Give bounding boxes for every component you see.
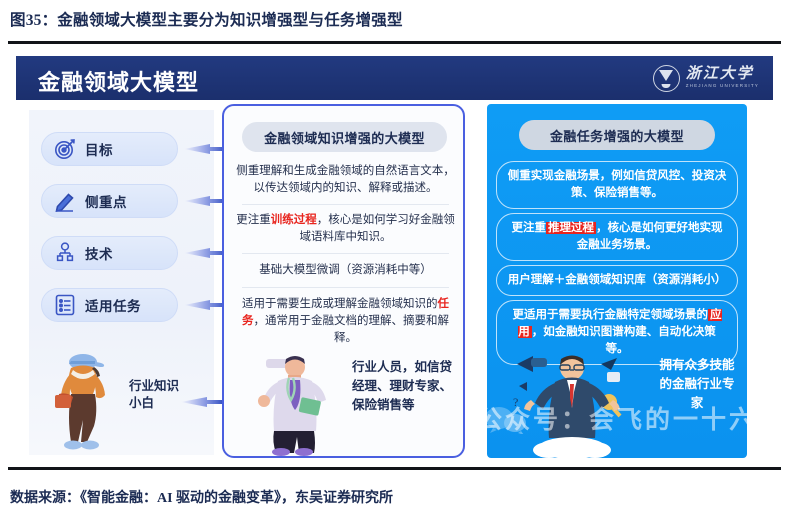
source-note: 数据来源：《智能金融：AI 驱动的金融变革》，东吴证券研究所 bbox=[10, 487, 393, 507]
target-icon bbox=[53, 137, 77, 161]
dimension-item-goal[interactable]: 目标 bbox=[41, 132, 178, 166]
task-row-focus: 更注重推理过程，核心是如何更好地实现金融业务场景。 bbox=[496, 213, 738, 261]
zhejiang-university-logo: 浙江大学 ZHEJIANG UNIVERSITY bbox=[653, 62, 759, 94]
flow-arrow-4 bbox=[184, 298, 226, 312]
knowledge-row-tasks: 适用于需要生成或理解金融领域知识的任务，通常用于金融文档的理解、摘要和解释。 bbox=[236, 296, 455, 347]
task-row-technology: 用户理解＋金融领域知识库（资源消耗小） bbox=[496, 265, 738, 296]
flow-arrow-1 bbox=[184, 142, 226, 156]
source-divider bbox=[8, 467, 781, 470]
row-text: ，核心是如何更好地实现金融业务场景。 bbox=[577, 222, 723, 251]
flow-arrow-persona bbox=[181, 395, 223, 409]
middle-persona-caption: 行业人员，如信贷经理、理财专家、保险销售等 bbox=[352, 358, 456, 415]
slide-title: 金融领域大模型 bbox=[38, 65, 199, 97]
logo-name-cn: 浙江大学 bbox=[686, 67, 759, 82]
dimension-label: 侧重点 bbox=[85, 191, 127, 211]
card-divider bbox=[242, 253, 449, 254]
wechat-watermark-icon bbox=[487, 404, 529, 434]
task-enhanced-panel: 金融任务增强的大模型 侧重实现金融场景，例如信贷风控、投资决策、保险销售等。 更… bbox=[487, 104, 747, 458]
pencil-icon bbox=[53, 189, 77, 213]
logo-name-en: ZHEJIANG UNIVERSITY bbox=[686, 84, 759, 89]
dimension-label: 目标 bbox=[85, 139, 113, 159]
knowledge-row-focus: 更注重训练过程，核心是如何学习好金融领域语料库中知识。 bbox=[236, 212, 455, 246]
row-highlight: 推理过程 bbox=[546, 222, 596, 234]
dimension-item-focus[interactable]: 侧重点 bbox=[41, 184, 178, 218]
row-text: 基础大模型微调（资源消耗中等） bbox=[259, 264, 432, 276]
row-text: 侧重实现金融场景，例如信贷风控、投资决策、保险销售等。 bbox=[508, 170, 727, 199]
university-crest-icon bbox=[653, 65, 680, 92]
row-text: 用户理解＋金融领域知识库（资源消耗小） bbox=[508, 274, 727, 286]
flow-arrow-2 bbox=[184, 194, 226, 208]
dimension-label: 适用任务 bbox=[85, 295, 141, 315]
card-divider bbox=[242, 287, 449, 288]
slide-canvas: 金融领域大模型 浙江大学 ZHEJIANG UNIVERSITY 目标 bbox=[16, 56, 773, 462]
task-row-goal: 侧重实现金融场景，例如信贷风控、投资决策、保险销售等。 bbox=[496, 161, 738, 209]
org-chart-icon bbox=[53, 241, 77, 265]
knowledge-card-title: 金融领域知识增强的大模型 bbox=[242, 122, 447, 152]
row-text: 适用于需要生成或理解金融领域知识的 bbox=[242, 298, 438, 310]
page-title: 图35：金融领域大模型主要分为知识增强型与任务增强型 bbox=[10, 8, 770, 36]
row-text: 侧重理解和生成金融领域的自然语言文本，以传达领域内的知识、解释或描述。 bbox=[236, 165, 455, 194]
row-text: 更注重 bbox=[512, 222, 547, 234]
knowledge-enhanced-card: 金融领域知识增强的大模型 侧重理解和生成金融领域的自然语言文本，以传达领域内的知… bbox=[222, 104, 465, 458]
slide-body: 目标 侧重点 bbox=[16, 100, 773, 462]
slide-header-bar: 金融领域大模型 浙江大学 ZHEJIANG UNIVERSITY bbox=[16, 56, 773, 100]
knowledge-row-goal: 侧重理解和生成金融领域的自然语言文本，以传达领域内的知识、解释或描述。 bbox=[236, 163, 455, 197]
checklist-icon bbox=[53, 293, 77, 317]
knowledge-card-title-text: 金融领域知识增强的大模型 bbox=[264, 128, 425, 147]
row-highlight: 训练过程 bbox=[271, 214, 317, 226]
row-text: 更适用于需要执行金融特定领域场景的 bbox=[513, 309, 709, 321]
task-card-title-text: 金融任务增强的大模型 bbox=[550, 126, 684, 145]
expert-person-illustration: ? bbox=[497, 344, 647, 458]
right-persona-caption: 拥有众多技能的金融行业专家 bbox=[655, 356, 739, 413]
row-text: 更注重 bbox=[236, 214, 271, 226]
dimension-label: 技术 bbox=[85, 243, 113, 263]
professional-person-illustration bbox=[238, 351, 350, 456]
row-text: ，核心是如何学习好金融领域语料库中知识。 bbox=[300, 214, 455, 243]
flow-arrow-3 bbox=[184, 246, 226, 260]
row-text: ，通常用于金融文档的理解、摘要和解释。 bbox=[254, 315, 450, 344]
task-card-title: 金融任务增强的大模型 bbox=[519, 120, 715, 150]
dimension-item-tasks[interactable]: 适用任务 bbox=[41, 288, 178, 322]
card-divider bbox=[242, 204, 449, 205]
knowledge-row-technology: 基础大模型微调（资源消耗中等） bbox=[236, 262, 455, 279]
dimension-item-technology[interactable]: 技术 bbox=[41, 236, 178, 270]
left-persona-caption: 行业知识小白 bbox=[129, 378, 187, 412]
title-divider-top bbox=[8, 41, 781, 44]
left-dimension-column: 目标 侧重点 bbox=[29, 110, 214, 455]
novice-person-illustration bbox=[37, 350, 129, 450]
